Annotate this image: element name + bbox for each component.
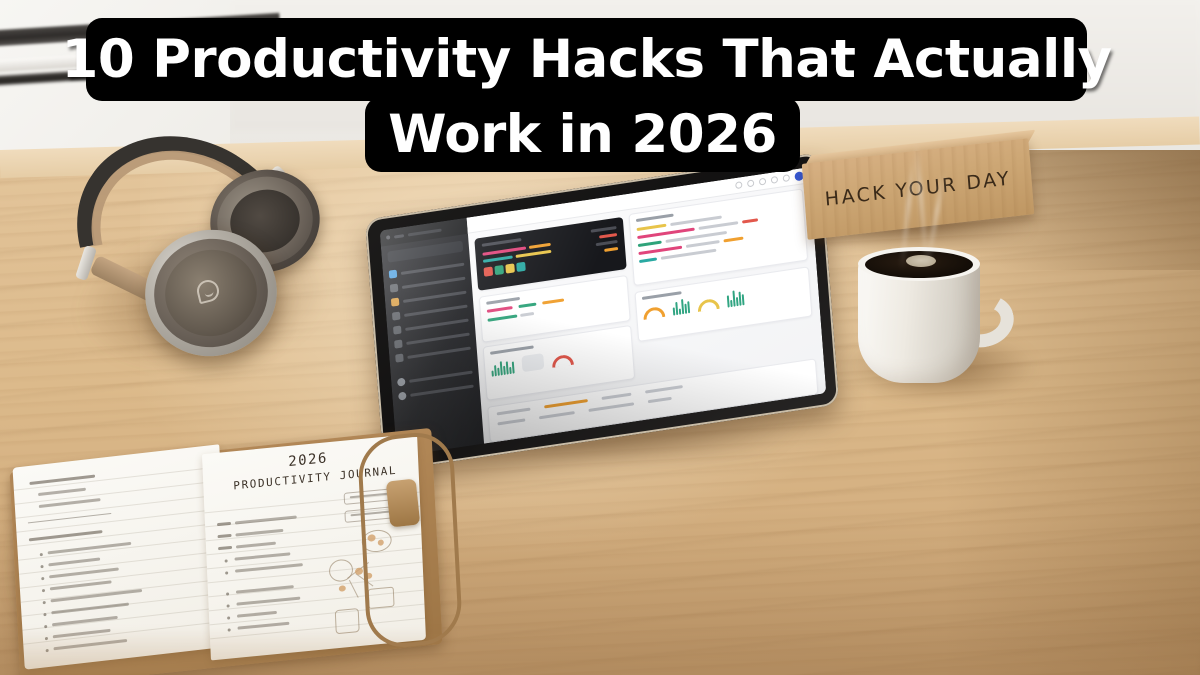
integrations-icon (397, 377, 406, 386)
brand-label (394, 234, 404, 238)
calendar-icon (393, 326, 402, 335)
brand-subtitle (408, 228, 442, 236)
team-icon (394, 340, 403, 349)
brand-dot-icon (386, 235, 390, 240)
mug-foam (906, 255, 936, 267)
gauge-dial (551, 354, 574, 368)
title-line-2: Work in 2026 (365, 97, 800, 172)
sidebar-item-label (402, 276, 466, 288)
tasks-icon (392, 312, 401, 321)
sidebar-item-label (407, 346, 471, 358)
reports-icon (391, 298, 400, 307)
journal-elastic-strap (357, 429, 464, 651)
sparkline-bars (491, 357, 515, 376)
sidebar-item-label (405, 318, 469, 330)
dashboard-main[interactable] (467, 167, 827, 443)
title-line-1: 10 Productivity Hacks That Actually (86, 18, 1087, 101)
journal-year: 2026 (288, 450, 328, 470)
title-overlay: 10 Productivity Hacks That Actually Work… (0, 0, 1200, 200)
projects-icon (395, 354, 404, 363)
sidebar-item-label (404, 304, 468, 316)
foreground-blur (0, 627, 1200, 675)
scene-root: HACK YOUR DAY (0, 0, 1200, 675)
sidebar-item-label (409, 370, 473, 382)
overview-icon (389, 270, 398, 279)
sidebar-item-label (403, 290, 467, 302)
journal-pen-loop (386, 479, 421, 528)
analytics-icon (390, 284, 399, 293)
coffee-mug (848, 243, 1028, 408)
sidebar-item-label (406, 332, 470, 344)
sidebar-item-label (401, 262, 465, 274)
